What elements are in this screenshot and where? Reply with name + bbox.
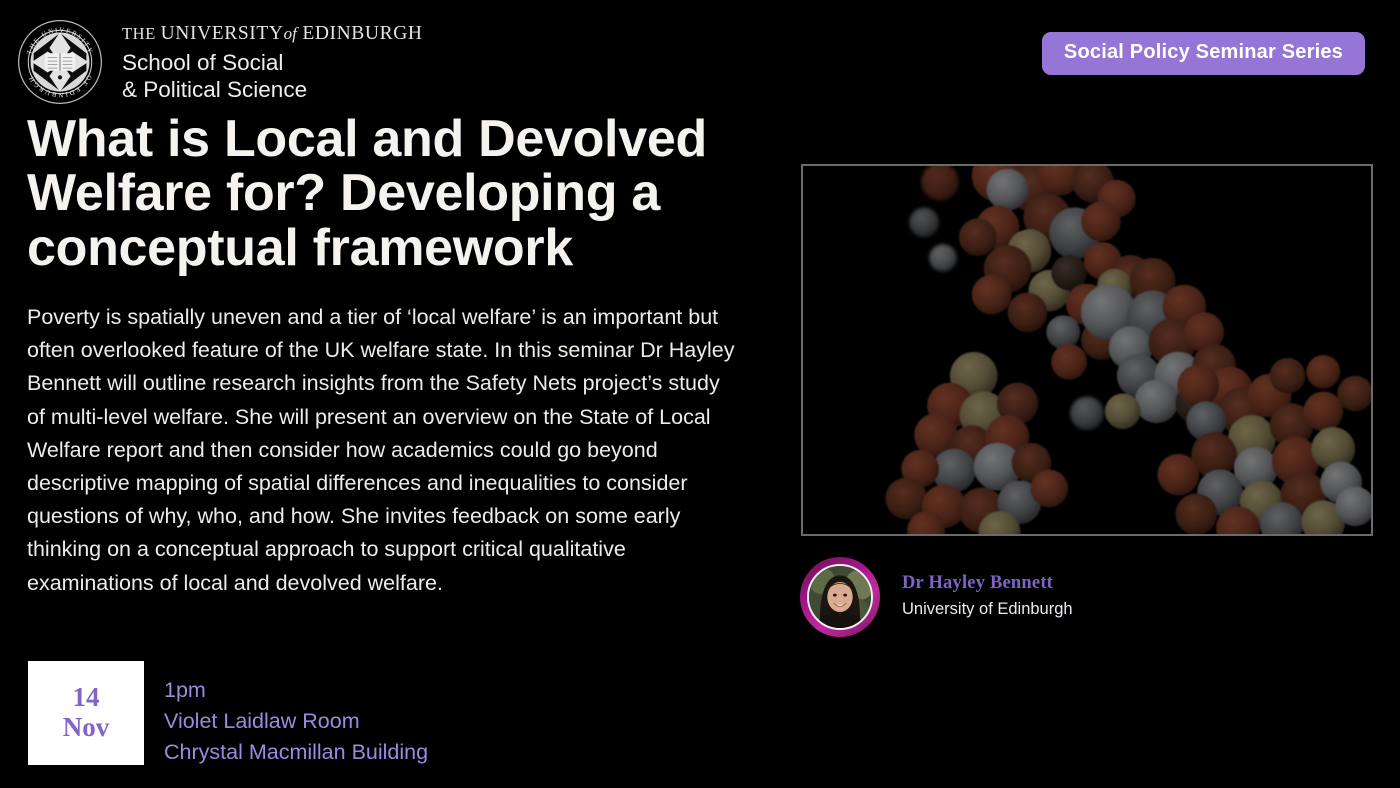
event-building: Chrystal Macmillan Building [164, 737, 428, 768]
seminar-poster: THE UNIVERSITY OF EDINBURGH THE UNIVERSI… [0, 0, 1400, 788]
coins-image [803, 166, 1371, 534]
speaker-block: Dr Hayley Bennett University of Edinburg… [800, 557, 1073, 637]
date-month: Nov [63, 713, 110, 743]
avatar-image [807, 564, 873, 630]
speaker-portrait-icon [809, 566, 871, 628]
wordmark-edinburgh: EDINBURGH [302, 23, 422, 44]
date-badge: 14 Nov [28, 661, 144, 765]
university-wordmark: THE UNIVERSITYof EDINBURGH School of Soc… [122, 18, 423, 103]
abstract-text: Poverty is spatially uneven and a tier o… [27, 301, 739, 600]
event-room: Violet Laidlaw Room [164, 706, 428, 737]
university-crest-icon: THE UNIVERSITY OF EDINBURGH [16, 18, 104, 106]
school-line-2: & Political Science [122, 76, 423, 103]
school-line-1: School of Social [122, 49, 423, 76]
event-location-block: 1pm Violet Laidlaw Room Chrystal Macmill… [164, 661, 428, 769]
wordmark-university: UNIVERSITY [161, 23, 284, 44]
series-badge: Social Policy Seminar Series [1042, 32, 1365, 75]
speaker-affiliation: University of Edinburgh [902, 598, 1073, 620]
event-details-row: 14 Nov 1pm Violet Laidlaw Room Chrystal … [28, 661, 428, 769]
school-name: School of Social & Political Science [122, 49, 423, 103]
avatar [800, 557, 880, 637]
speaker-name: Dr Hayley Bennett [902, 571, 1073, 595]
coins-image-frame [801, 164, 1373, 536]
brand-lockup: THE UNIVERSITY OF EDINBURGH THE UNIVERSI… [16, 18, 423, 106]
event-time: 1pm [164, 675, 428, 706]
speaker-text: Dr Hayley Bennett University of Edinburg… [902, 571, 1073, 622]
wordmark-the: THE [122, 24, 156, 43]
wordmark-university-line: THE UNIVERSITYof EDINBURGH [122, 24, 423, 44]
main-content: What is Local and Devolved Welfare for? … [27, 112, 749, 600]
wordmark-of: of [284, 24, 297, 43]
date-day: 14 [73, 683, 100, 711]
page-title: What is Local and Devolved Welfare for? … [27, 112, 727, 275]
